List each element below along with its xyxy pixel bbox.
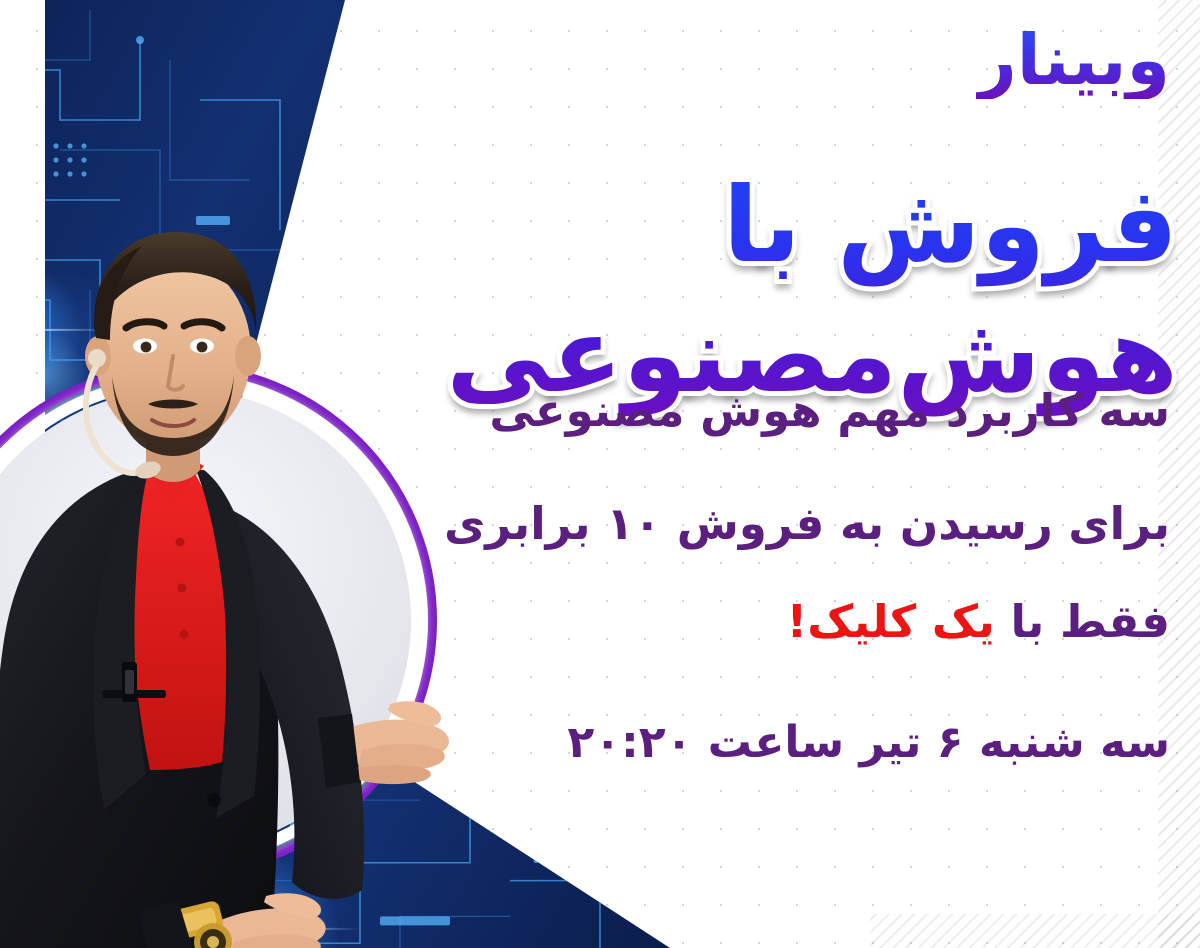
call-to-action-line: فقط با یک کلیک! [787,596,1170,648]
cta-highlight: یک کلیک! [787,595,995,648]
subtitle-line-1: سه کاربرد مهم هوش مصنوعی [489,385,1170,437]
headline-fill-layer: فروش با هوش‌مصنوعی [278,160,1178,420]
webinar-banner: وبینار فروش با هوش‌مصنوعی فروش با هوش‌مص… [0,0,1200,948]
text-content: وبینار فروش با هوش‌مصنوعی فروش با هوش‌مص… [264,0,1184,948]
kicker-webinar-label: وبینار [976,22,1170,99]
schedule-line: سه شنبه ۶ تیر ساعت ۲۰:۲۰ [567,718,1170,769]
subtitle-line-2: برای رسیدن به فروش ۱۰ برابری [444,498,1170,550]
main-headline: فروش با هوش‌مصنوعی فروش با هوش‌مصنوعی فر… [278,160,1178,310]
cta-prefix: فقط با [995,595,1170,648]
